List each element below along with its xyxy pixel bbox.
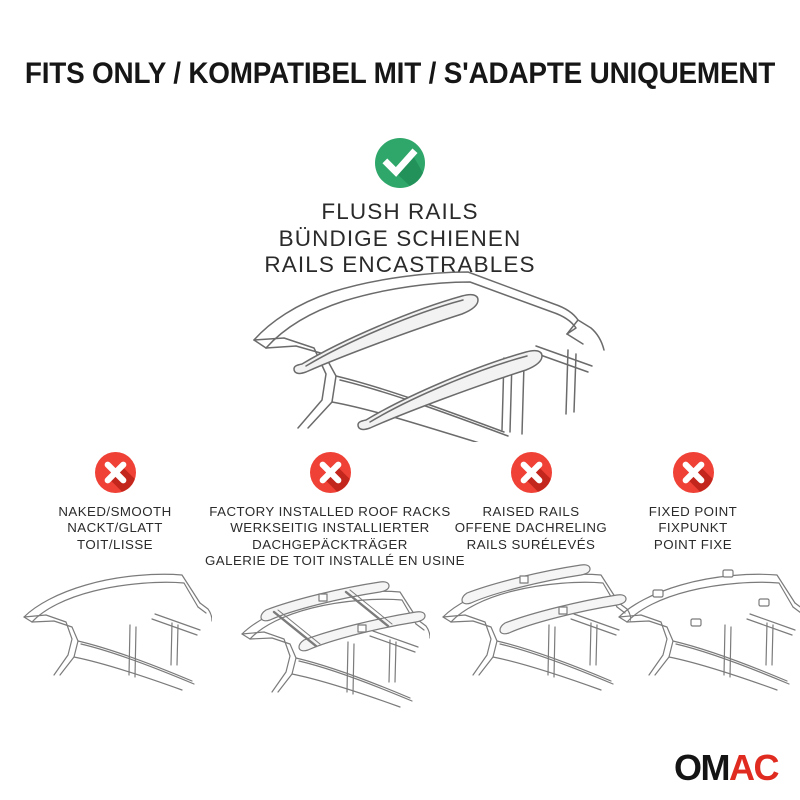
option-label-de-1: WERKSEITIG INSTALLIERTER (205, 520, 455, 536)
option-label-group: FIXED POINT FIXPUNKT POINT FIXE (603, 504, 783, 553)
compatible-label-en: FLUSH RAILS (0, 199, 800, 226)
option-label-group: NAKED/SMOOTH NACKT/GLATT TOIT/LISSE (5, 504, 225, 553)
car-roof-fixed-point-illustration (607, 557, 800, 697)
check-circle-icon (375, 138, 425, 188)
compatible-label-de: BÜNDIGE SCHIENEN (0, 226, 800, 253)
x-circle-icon (511, 452, 552, 493)
option-label-fr: GALERIE DE TOIT INSTALLÉ EN USINE (205, 553, 455, 569)
x-circle-icon (95, 452, 136, 493)
compatible-block: FLUSH RAILS BÜNDIGE SCHIENEN RAILS ENCAS… (0, 138, 800, 279)
option-label-fr: TOIT/LISSE (5, 537, 225, 553)
option-naked-smooth: NAKED/SMOOTH NACKT/GLATT TOIT/LISSE (5, 452, 225, 702)
option-fixed-point: FIXED POINT FIXPUNKT POINT FIXE (603, 452, 783, 702)
option-label-en: FIXED POINT (603, 504, 783, 520)
option-label-en: NAKED/SMOOTH (5, 504, 225, 520)
omac-logo-dark: OM (674, 747, 729, 788)
option-icon-wrap (603, 452, 783, 498)
option-label-en: FACTORY INSTALLED ROOF RACKS (205, 504, 455, 520)
option-label-de-2: DACHGEPÄCKTRÄGER (205, 537, 455, 553)
car-roof-flush-rails-illustration (236, 262, 606, 442)
car-roof-raised-rails-illustration (431, 557, 631, 697)
option-label-de: NACKT/GLATT (5, 520, 225, 536)
incompatible-options-row: NAKED/SMOOTH NACKT/GLATT TOIT/LISSE (0, 452, 800, 712)
x-circle-icon (310, 452, 351, 493)
option-factory-roof-racks: FACTORY INSTALLED ROOF RACKS WERKSEITIG … (205, 452, 455, 719)
option-icon-wrap (5, 452, 225, 498)
x-circle-icon (673, 452, 714, 493)
omac-logo-accent: AC (729, 747, 778, 788)
car-roof-factory-racks-illustration (230, 574, 430, 714)
omac-logo: OMAC (674, 751, 778, 785)
option-label-fr: POINT FIXE (603, 537, 783, 553)
option-icon-wrap (205, 452, 455, 498)
option-label-de: FIXPUNKT (603, 520, 783, 536)
page-title: FITS ONLY / KOMPATIBEL MIT / S'ADAPTE UN… (22, 56, 778, 92)
car-roof-naked-smooth-illustration (12, 557, 212, 697)
option-label-group: FACTORY INSTALLED ROOF RACKS WERKSEITIG … (205, 504, 455, 570)
